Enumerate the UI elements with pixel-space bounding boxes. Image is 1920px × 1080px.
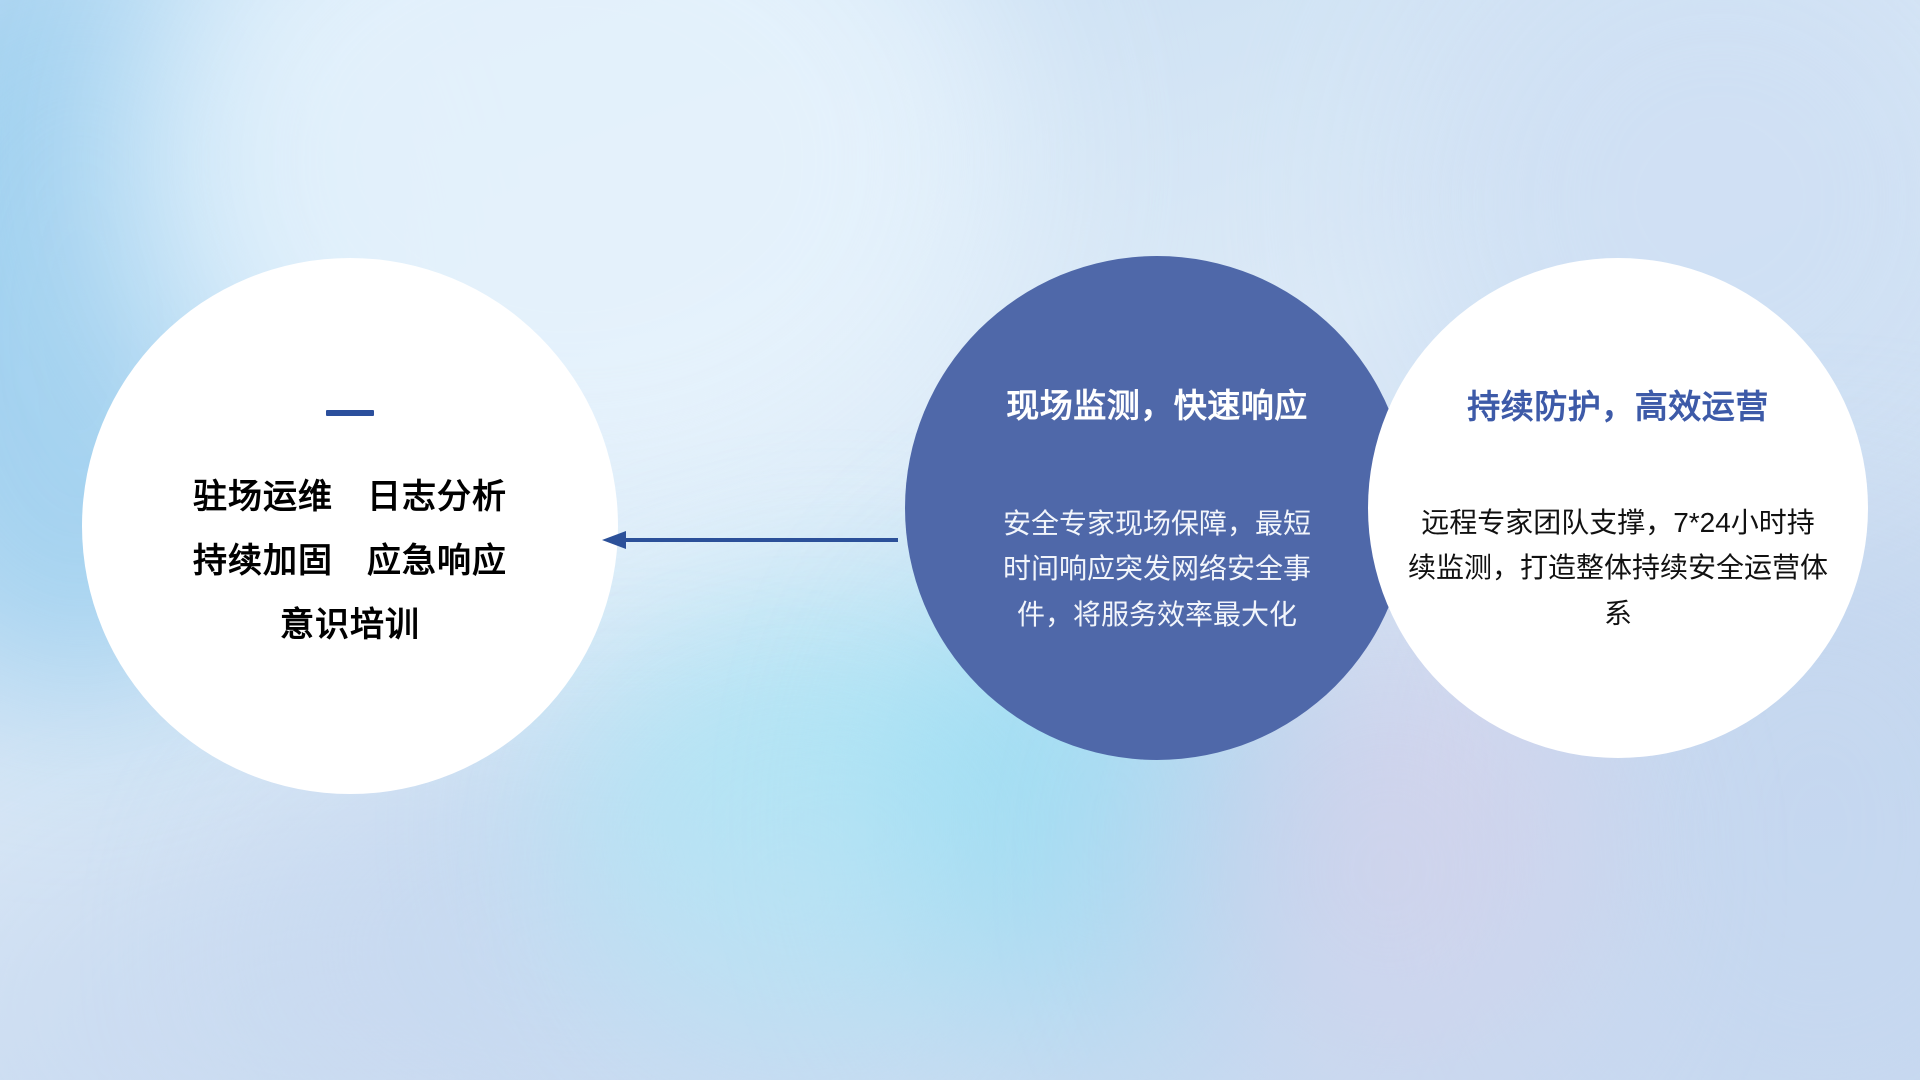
capability-tag: 日志分析 <box>367 480 507 514</box>
capability-row: 驻场运维 日志分析 <box>193 480 507 514</box>
flow-arrow <box>600 520 900 560</box>
right-circle-body: 远程专家团队支撑，7*24小时持续监测，打造整体持续安全运营体系 <box>1408 500 1828 636</box>
left-circle-content: 驻场运维 日志分析 持续加固 应急响应 意识培训 <box>82 258 618 794</box>
capability-tag: 意识培训 <box>280 608 420 642</box>
right-circle-content: 持续防护，高效运营 远程专家团队支撑，7*24小时持续监测，打造整体持续安全运营… <box>1398 258 1838 758</box>
middle-circle-body: 安全专家现场保障，最短时间响应突发网络安全事件，将服务效率最大化 <box>992 501 1322 637</box>
capability-circle-right: 持续防护，高效运营 远程专家团队支撑，7*24小时持续监测，打造整体持续安全运营… <box>1368 258 1868 758</box>
capability-row: 意识培训 <box>280 608 420 642</box>
middle-circle-title: 现场监测，快速响应 <box>1006 379 1308 427</box>
middle-circle-content: 现场监测，快速响应 安全专家现场保障，最短时间响应突发网络安全事件，将服务效率最… <box>943 256 1371 760</box>
divider-bar <box>326 410 374 416</box>
capability-row: 持续加固 应急响应 <box>193 544 507 578</box>
capability-circle-left: 驻场运维 日志分析 持续加固 应急响应 意识培训 <box>82 258 618 794</box>
capability-tag: 驻场运维 <box>193 480 333 514</box>
capability-tag-list: 驻场运维 日志分析 持续加固 应急响应 意识培训 <box>193 480 507 642</box>
capability-tag: 持续加固 <box>193 544 333 578</box>
capability-tag: 应急响应 <box>367 544 507 578</box>
capability-circle-middle: 现场监测，快速响应 安全专家现场保障，最短时间响应突发网络安全事件，将服务效率最… <box>905 256 1409 760</box>
arrow-left-icon <box>600 520 900 560</box>
right-circle-title: 持续防护，高效运营 <box>1467 380 1769 428</box>
